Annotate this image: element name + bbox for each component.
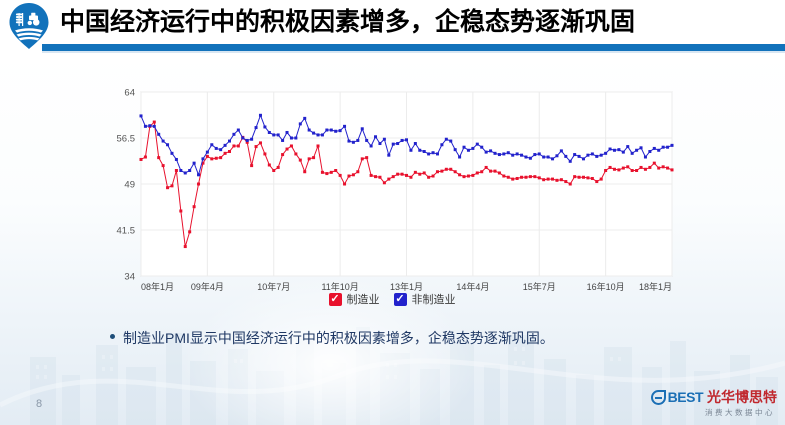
pmi-line-chart: 3441.54956.564 08年1月09年4月10年7月11年10月13年1… [106,80,678,310]
chart-legend: ✓制造业✓非制造业 [106,288,678,310]
svg-text:64: 64 [124,88,135,99]
brand-name-text: 光华博思特 [707,387,777,407]
legend-label: 非制造业 [412,291,456,307]
slide-header: 中国经济运行中的积极因素增多，企稳态势逐渐巩固 [0,0,785,44]
legend-item-non-manufacturing[interactable]: ✓非制造业 [394,291,456,307]
svg-text:49: 49 [124,180,135,191]
svg-text:34: 34 [124,272,135,283]
page-number: 8 [36,398,42,410]
legend-item-manufacturing[interactable]: ✓制造业 [329,291,380,307]
legend-checkbox-icon[interactable]: ✓ [329,293,342,306]
brand-subtitle: 消费大数据中心 [645,407,777,418]
farm-location-pin-icon [7,2,51,50]
bullet-text: 制造业PMI显示中国经济运行中的积极因素增多，企稳态势逐渐巩固。 [123,328,554,348]
y-axis-tick-labels: 3441.54956.564 [117,88,136,283]
bullet-dot-icon [110,334,115,339]
legend-label: 制造业 [347,291,380,307]
bullet-row: 制造业PMI显示中国经济运行中的积极因素增多，企稳态势逐渐巩固。 [110,328,710,348]
svg-text:56.5: 56.5 [117,134,136,145]
legend-checkbox-icon[interactable]: ✓ [394,293,407,306]
page-title: 中国经济运行中的积极因素增多，企稳态势逐渐巩固 [60,5,760,41]
chart-plot-svg: 3441.54956.564 08年1月09年4月10年7月11年10月13年1… [106,80,678,310]
title-divider [42,44,785,51]
brand-logo: BEST 光华博思特 消费大数据中心 [645,388,777,420]
title-divider-shadow [42,51,785,53]
brand-mark-text: BEST [668,389,703,405]
brand-logo-main: BEST 光华博思特 [645,388,777,406]
svg-text:41.5: 41.5 [117,226,136,237]
best-b-logo-icon [651,390,666,405]
slide-canvas: 中国经济运行中的积极因素增多，企稳态势逐渐巩固 3441.54956.564 0… [0,0,785,425]
